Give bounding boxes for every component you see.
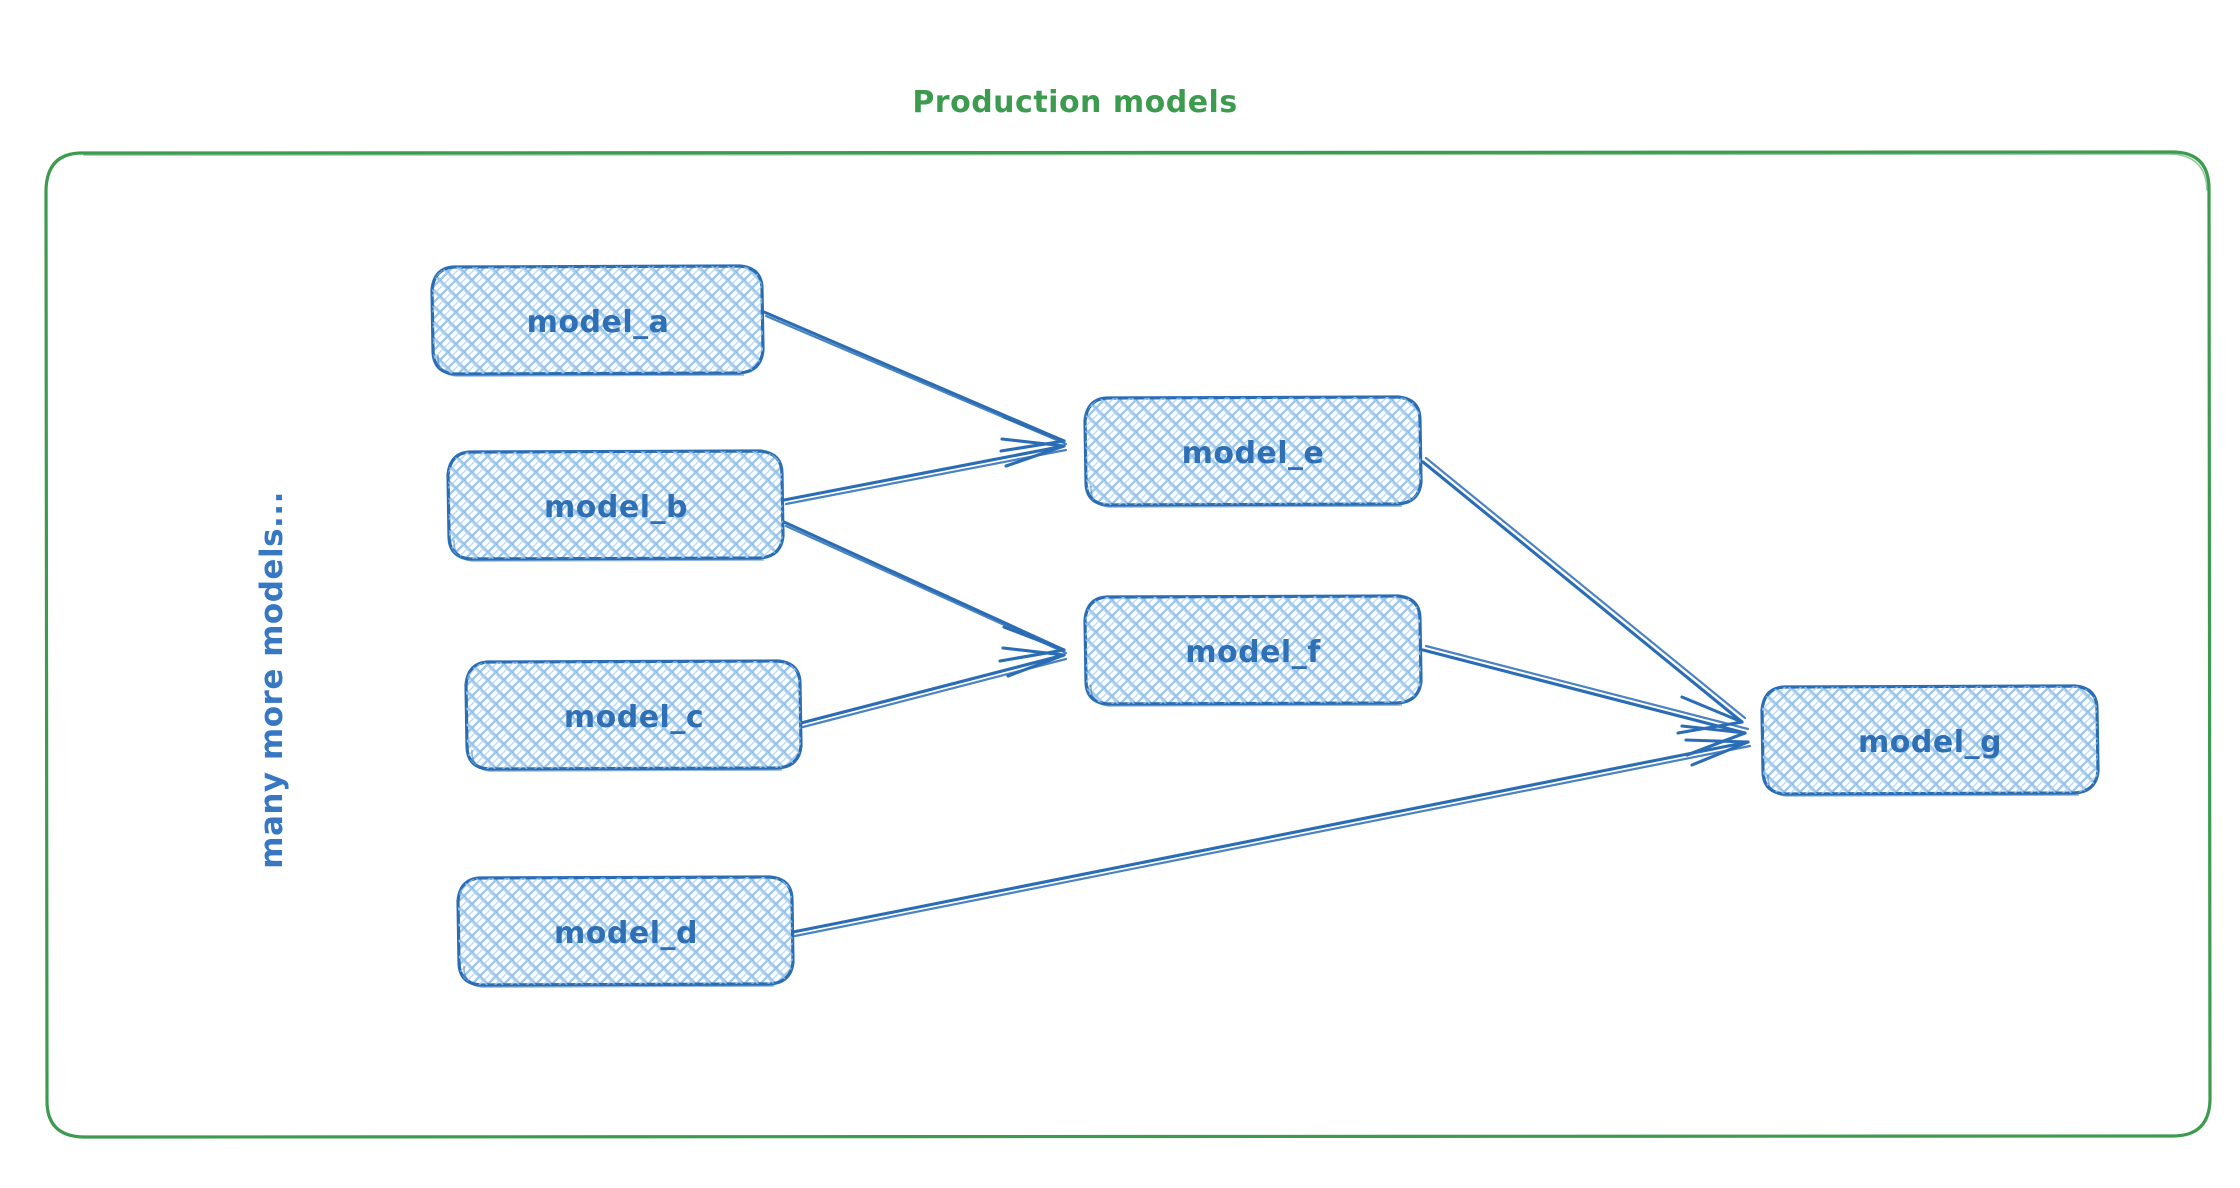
- edge-model_f-to-model_g: [1423, 646, 1748, 755]
- nodes-layer: model_a model_b model_c model: [432, 266, 2098, 987]
- edge-model_c-to-model_f: [801, 648, 1066, 727]
- edge-model_b-to-model_f: [784, 522, 1066, 661]
- diagram-svg: Production models many more models...: [0, 0, 2240, 1188]
- side-note-many-more-models: many more models...: [254, 491, 290, 869]
- group-title: Production models: [912, 85, 1237, 120]
- node-model_f[interactable]: model_f: [1085, 596, 1421, 706]
- node-model_c[interactable]: model_c: [466, 661, 801, 771]
- node-label-model_c: model_c: [564, 700, 704, 735]
- edge-model_d-to-model_g: [793, 740, 1750, 936]
- node-label-model_f: model_f: [1185, 635, 1321, 670]
- node-label-model_b: model_b: [544, 490, 688, 525]
- node-label-model_a: model_a: [527, 305, 670, 340]
- node-model_g[interactable]: model_g: [1762, 686, 2098, 796]
- node-model_d[interactable]: model_d: [458, 877, 793, 987]
- node-label-model_e: model_e: [1182, 436, 1325, 471]
- node-model_b[interactable]: model_b: [448, 451, 783, 561]
- node-model_e[interactable]: model_e: [1085, 397, 1421, 507]
- edge-model_a-to-model_e: [764, 312, 1066, 451]
- diagram-canvas: Production models many more models...: [0, 0, 2240, 1188]
- node-label-model_d: model_d: [554, 916, 698, 951]
- node-label-model_g: model_g: [1858, 725, 2002, 760]
- node-model_a[interactable]: model_a: [432, 266, 763, 376]
